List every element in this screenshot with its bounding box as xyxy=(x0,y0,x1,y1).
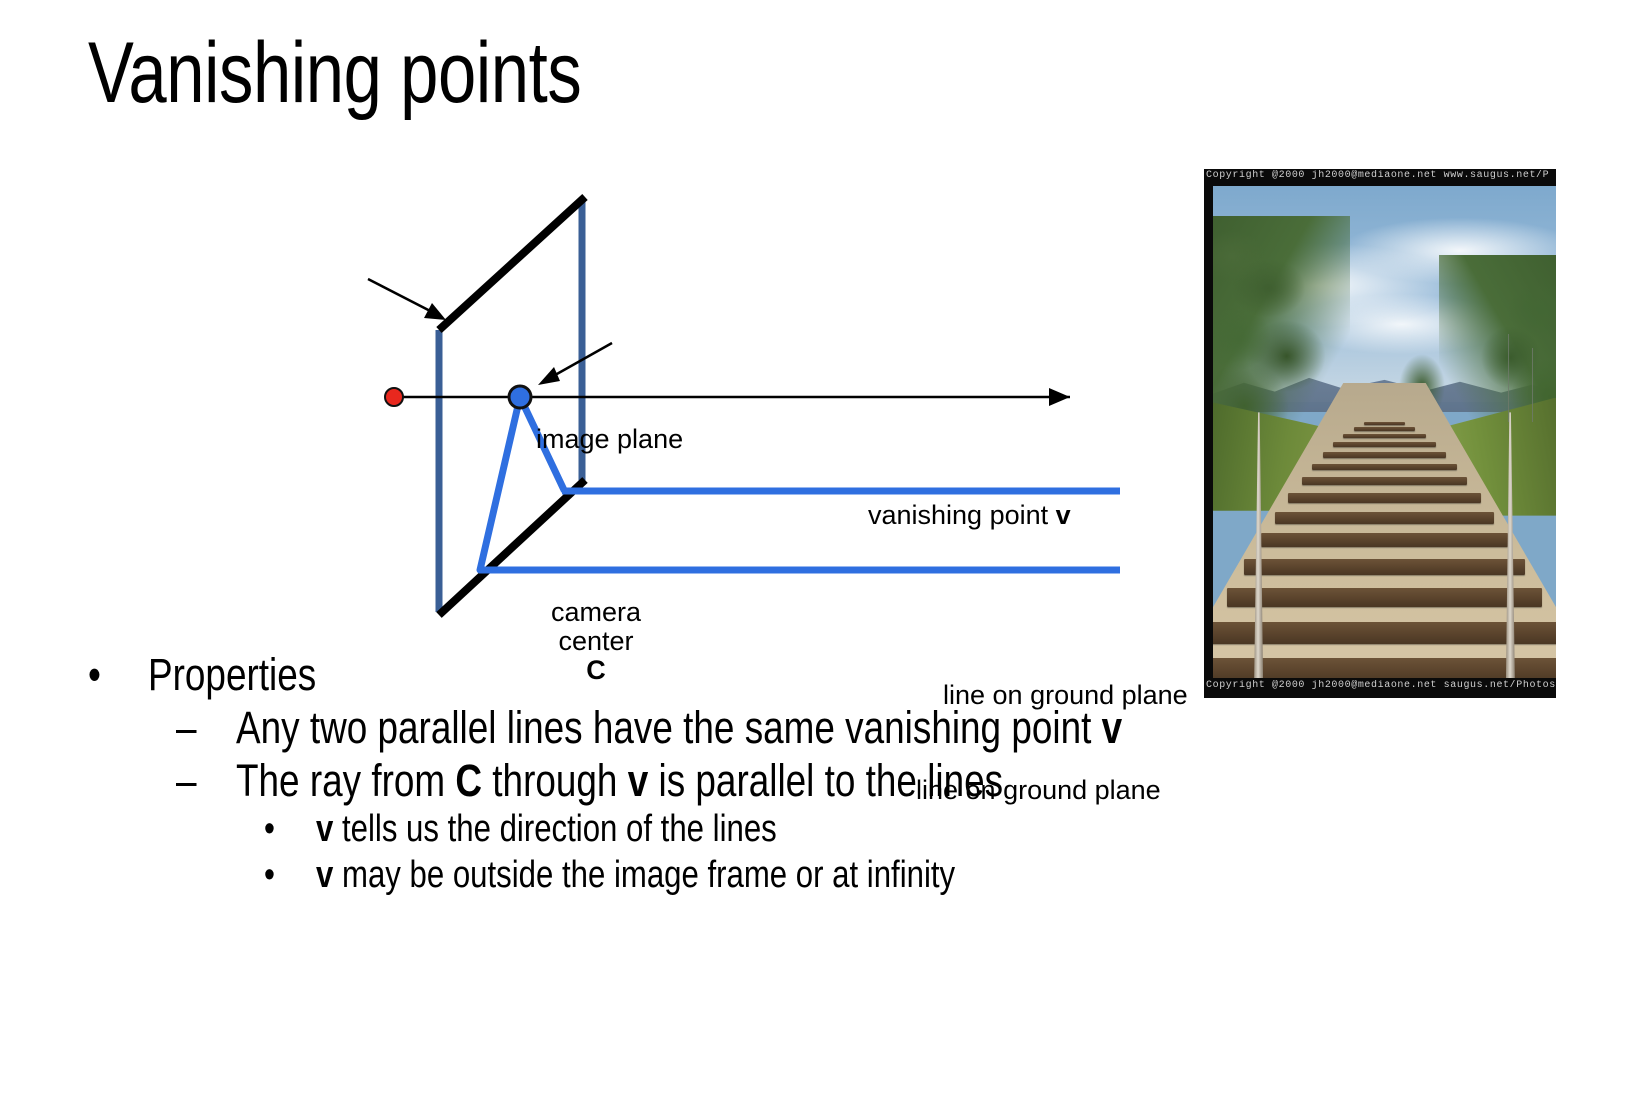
bullet-marker-icon: • xyxy=(264,807,316,853)
bullet-symbol: v xyxy=(1102,702,1123,753)
photo-watermark-bottom: Copyright @2000 jh2000@mediaone.net saug… xyxy=(1204,680,1556,696)
bullet-marker-icon: • xyxy=(264,853,316,899)
image-plane-label: image plane xyxy=(536,425,683,454)
photo-tie xyxy=(1343,434,1425,438)
photo-utility-pole-1 xyxy=(1508,334,1509,423)
vanishing-point-label: vanishing point v xyxy=(868,501,1071,530)
bullet-item-level2: –The ray from C through v is parallel to… xyxy=(176,754,1568,807)
photo-utility-pole-2 xyxy=(1532,348,1533,422)
principal-ray-arrowhead xyxy=(1049,388,1070,406)
photo-tie xyxy=(1302,477,1467,485)
bullet-text-run: is parallel to the lines xyxy=(648,755,1003,806)
photo-watermark-top: Copyright @2000 jh2000@mediaone.net www.… xyxy=(1204,170,1556,186)
bullet-item-level3: •v may be outside the image frame or at … xyxy=(264,853,1568,899)
bullet-marker-icon: – xyxy=(176,701,236,754)
page-title: Vanishing points xyxy=(88,30,581,116)
camera-center-line1: camera xyxy=(540,598,652,627)
photo-tie xyxy=(1275,512,1495,524)
photo-tie xyxy=(1288,493,1480,503)
vanishing-point-dot xyxy=(509,386,531,408)
photo-tie xyxy=(1244,559,1525,575)
bullet-text-run: The ray from xyxy=(236,755,455,806)
image-plane-leader xyxy=(368,279,438,315)
plane-bottom-edge xyxy=(439,480,585,615)
bullet-text: v tells us the direction of the lines xyxy=(316,807,1343,853)
bullet-text-run: Properties xyxy=(148,649,316,700)
camera-center-dot xyxy=(385,388,403,406)
bullet-text-run: Any two parallel lines have the same van… xyxy=(236,702,1102,753)
vanishing-point-diagram: image plane vanishing point v camera cen… xyxy=(260,175,1120,645)
bullet-text-run: through xyxy=(482,755,628,806)
railroad-photo: Copyright @2000 jh2000@mediaone.net www.… xyxy=(1204,169,1556,698)
photo-tie xyxy=(1333,442,1436,447)
bullet-symbol: v xyxy=(628,755,649,806)
bullet-item-level3: •v tells us the direction of the lines xyxy=(264,807,1568,853)
bullet-marker-icon: • xyxy=(88,648,148,701)
vanishing-point-label-text: vanishing point xyxy=(868,500,1056,530)
bullet-marker-icon: – xyxy=(176,754,236,807)
photo-tie xyxy=(1323,452,1446,458)
vanishing-point-arrowhead xyxy=(538,367,560,385)
bullet-symbol: C xyxy=(455,755,482,806)
diagram-svg xyxy=(260,175,1120,645)
bullet-text-run: may be outside the image frame or at inf… xyxy=(333,854,955,896)
slide-canvas: Vanishing points xyxy=(0,0,1626,1102)
bullet-text-run: tells us the direction of the lines xyxy=(333,808,776,850)
photo-tie xyxy=(1227,588,1543,607)
bullet-text: The ray from C through v is parallel to … xyxy=(236,754,1328,807)
bullet-symbol: v xyxy=(316,854,333,896)
bullet-text: Any two parallel lines have the same van… xyxy=(236,701,1328,754)
photo-tie xyxy=(1354,427,1416,430)
plane-top-edge xyxy=(439,197,585,330)
photo-image xyxy=(1213,186,1556,678)
photo-tie xyxy=(1213,622,1556,644)
photo-tie xyxy=(1364,422,1405,425)
image-plane-arrowhead xyxy=(424,303,446,320)
photo-tie xyxy=(1312,464,1456,471)
vanishing-point-symbol: v xyxy=(1056,500,1071,530)
bullet-item-level2: –Any two parallel lines have the same va… xyxy=(176,701,1568,754)
bullet-text: Properties xyxy=(148,648,1312,701)
bullet-text: v may be outside the image frame or at i… xyxy=(316,853,1343,899)
photo-tie xyxy=(1261,533,1508,547)
bullet-symbol: v xyxy=(316,808,333,850)
